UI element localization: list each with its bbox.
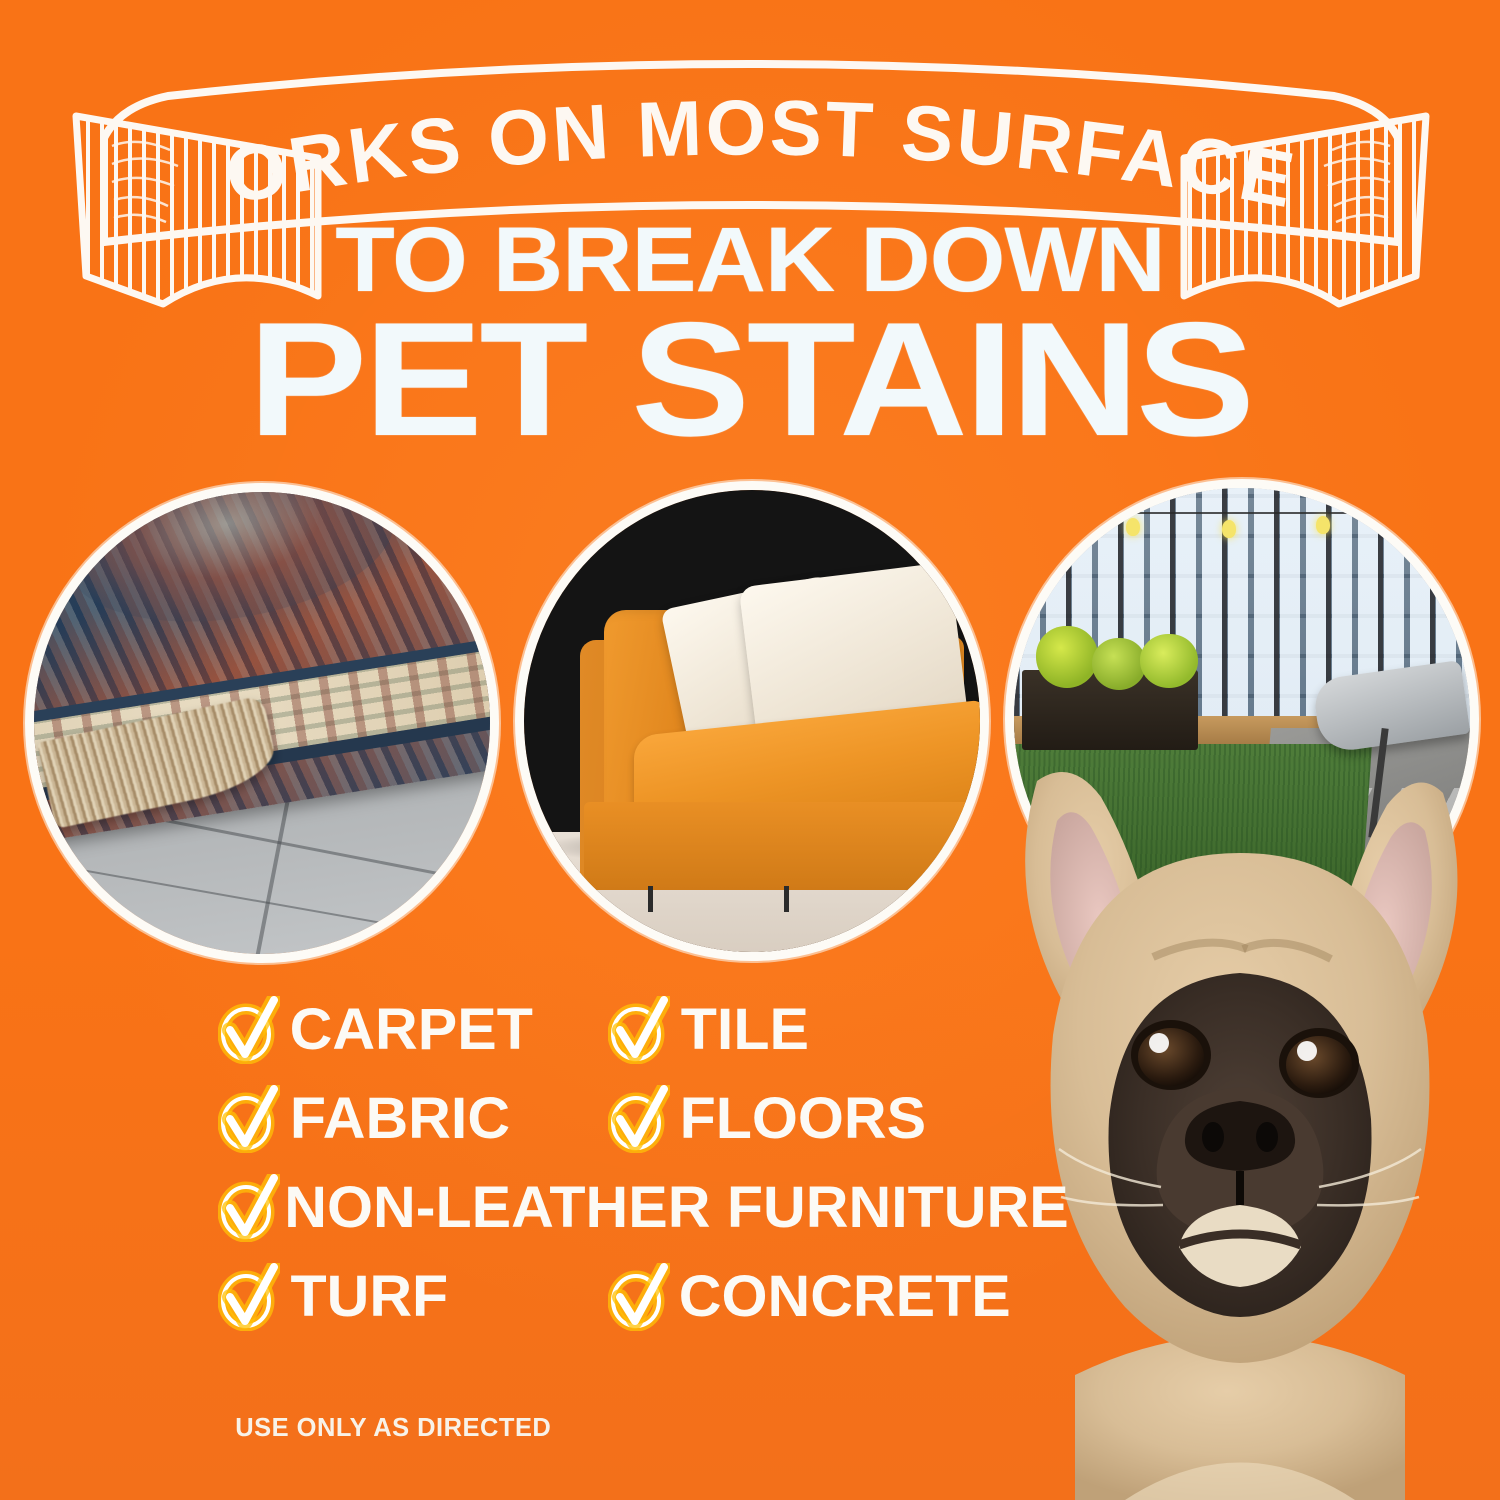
checklist-row: CARPET TILE: [218, 996, 1098, 1064]
check-mark-icon: [608, 1263, 670, 1331]
string-light-wire: [1060, 512, 1440, 514]
checklist-item-label: NON-LEATHER FURNITURE: [284, 1179, 1068, 1237]
checklist-item-label: TURF: [290, 1268, 448, 1326]
string-light-bulb: [1126, 518, 1140, 536]
check-mark-icon: [218, 1085, 280, 1153]
check-mark-icon: [608, 996, 670, 1064]
photo-circle-carpet: [34, 492, 490, 954]
check-mark-icon: [608, 1085, 670, 1153]
rug-medallion: [50, 492, 406, 643]
checklist-item-carpet: CARPET: [218, 996, 608, 1064]
checklist-item-tile: TILE: [608, 996, 808, 1064]
checklist-row: NON-LEATHER FURNITURE: [218, 1174, 1098, 1242]
checklist-item-turf: TURF: [218, 1263, 608, 1331]
check-mark-icon: [218, 996, 280, 1064]
sofa-legs: [644, 886, 934, 912]
artificial-turf: [1014, 744, 1372, 950]
string-light-bulb: [1316, 516, 1330, 534]
surfaces-checklist: CARPET TILE: [218, 996, 1098, 1352]
checklist-item-label: CONCRETE: [679, 1268, 1011, 1326]
checklist-item-label: FABRIC: [290, 1090, 510, 1148]
disclaimer-text: USE ONLY AS DIRECTED: [235, 1412, 551, 1443]
photo-circle-fabric-sofa: [524, 490, 980, 952]
photo-circle-turf-balcony: [1014, 488, 1470, 950]
check-mark-icon: [218, 1174, 280, 1242]
checklist-row: FABRIC FLOORS: [218, 1085, 1098, 1153]
sofa-base: [584, 802, 980, 890]
checklist-item-floors: FLOORS: [608, 1085, 924, 1153]
pet-stain-cleaner-ad-poster: WORKS ON MOST SURFACES TO BREAK DOWN PET…: [0, 0, 1500, 1500]
planter-foliage: [1036, 626, 1098, 688]
checklist-item-label: CARPET: [290, 1001, 533, 1059]
planter-foliage: [1140, 634, 1198, 688]
planter-foliage: [1092, 638, 1146, 690]
checklist-item-label: FLOORS: [680, 1090, 927, 1148]
checklist-row: TURF CONCRETE: [218, 1263, 1098, 1331]
checklist-item-non-leather-furniture: NON-LEATHER FURNITURE: [218, 1174, 1061, 1242]
checklist-item-concrete: CONCRETE: [608, 1263, 1007, 1331]
checklist-item-fabric: FABRIC: [218, 1085, 608, 1153]
string-light-bulb: [1222, 520, 1236, 538]
check-mark-icon: [218, 1263, 280, 1331]
checklist-item-label: TILE: [681, 1001, 809, 1059]
